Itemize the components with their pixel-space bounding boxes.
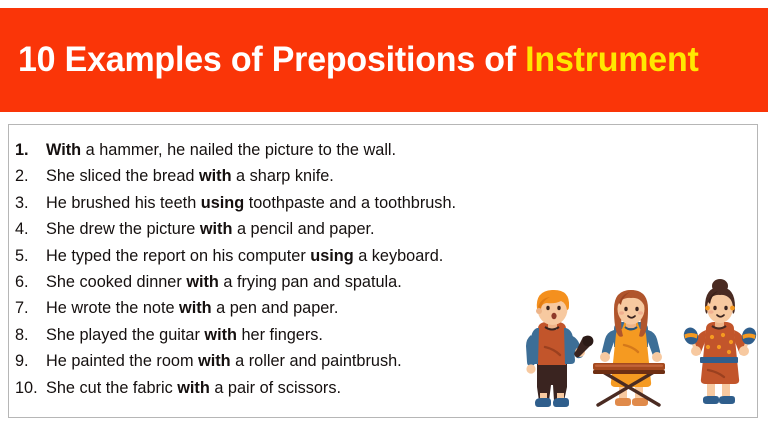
list-item-text: He wrote the note with a pen and paper. xyxy=(46,295,338,321)
page-title-main: 10 Examples of Prepositions of xyxy=(18,40,525,79)
list-item-number: 9. xyxy=(15,348,46,374)
list-item-text: She drew the picture with a pencil and p… xyxy=(46,216,375,242)
list-item-text: She played the guitar with her fingers. xyxy=(46,322,323,348)
text-bold: with xyxy=(177,379,210,397)
examples-list: 1. With a hammer, he nailed the picture … xyxy=(15,137,535,401)
list-item: 3. He brushed his teeth using toothpaste… xyxy=(15,190,535,216)
list-item-number: 3. xyxy=(15,190,46,216)
text-pre: He typed the report on his computer xyxy=(46,247,310,265)
list-item-number: 1. xyxy=(15,137,46,163)
text-bold: With xyxy=(46,141,81,159)
list-item-text: With a hammer, he nailed the picture to … xyxy=(46,137,396,163)
list-item-number: 2. xyxy=(15,163,46,189)
list-item: 4. She drew the picture with a pencil an… xyxy=(15,216,535,242)
text-bold: using xyxy=(310,247,353,265)
text-post: a roller and paintbrush. xyxy=(231,352,402,370)
text-pre: She played the guitar xyxy=(46,326,204,344)
illustration-three-children xyxy=(509,277,758,417)
text-bold: with xyxy=(200,220,233,238)
text-pre: He painted the room xyxy=(46,352,198,370)
list-item-number: 10. xyxy=(15,375,46,401)
text-pre: She sliced the bread xyxy=(46,167,199,185)
figure-boy-with-microphone xyxy=(526,290,593,407)
header-banner: 10 Examples of Prepositions of Instrumen… xyxy=(0,8,768,112)
text-pre: He brushed his teeth xyxy=(46,194,201,212)
list-item: 2. She sliced the bread with a sharp kni… xyxy=(15,163,535,189)
text-post: her fingers. xyxy=(237,326,323,344)
list-item-text: She sliced the bread with a sharp knife. xyxy=(46,163,334,189)
text-pre: She cooked dinner xyxy=(46,273,186,291)
list-item-text: He painted the room with a roller and pa… xyxy=(46,348,402,374)
text-bold: with xyxy=(186,273,219,291)
maraca-left-icon xyxy=(682,326,701,355)
text-bold: with xyxy=(199,167,232,185)
list-item-text: He brushed his teeth using toothpaste an… xyxy=(46,190,456,216)
list-item: 10. She cut the fabric with a pair of sc… xyxy=(15,375,535,401)
list-item-text: He typed the report on his computer usin… xyxy=(46,243,443,269)
text-bold: with xyxy=(204,326,237,344)
text-pre: She drew the picture xyxy=(46,220,200,238)
text-bold: with xyxy=(179,299,212,317)
text-post: a keyboard. xyxy=(354,247,444,265)
list-item-number: 6. xyxy=(15,269,46,295)
text-post: a pair of scissors. xyxy=(210,379,341,397)
text-post: a frying pan and spatula. xyxy=(219,273,402,291)
list-item: 7. He wrote the note with a pen and pape… xyxy=(15,295,535,321)
list-item: 5. He typed the report on his computer u… xyxy=(15,243,535,269)
text-bold: using xyxy=(201,194,244,212)
page-title: 10 Examples of Prepositions of Instrumen… xyxy=(18,40,699,80)
list-item-number: 5. xyxy=(15,243,46,269)
text-post: a pencil and paper. xyxy=(232,220,374,238)
text-pre: He wrote the note xyxy=(46,299,179,317)
list-item: 6. She cooked dinner with a frying pan a… xyxy=(15,269,535,295)
list-item: 1. With a hammer, he nailed the picture … xyxy=(15,137,535,163)
text-post: a pen and paper. xyxy=(212,299,339,317)
text-post: a sharp knife. xyxy=(232,167,334,185)
list-item-number: 4. xyxy=(15,216,46,242)
list-item-text: She cooked dinner with a frying pan and … xyxy=(46,269,402,295)
text-pre: She cut the fabric xyxy=(46,379,177,397)
text-post: toothpaste and a toothbrush. xyxy=(244,194,456,212)
content-box: 1. With a hammer, he nailed the picture … xyxy=(8,124,758,418)
figure-girl-with-maracas xyxy=(682,279,758,404)
list-item-number: 8. xyxy=(15,322,46,348)
text-post: a hammer, he nailed the picture to the w… xyxy=(81,141,396,159)
text-bold: with xyxy=(198,352,231,370)
page-root: 10 Examples of Prepositions of Instrumen… xyxy=(0,0,768,432)
page-title-highlight: Instrument xyxy=(525,40,698,79)
list-item-text: She cut the fabric with a pair of scisso… xyxy=(46,375,341,401)
list-item: 8. She played the guitar with her finger… xyxy=(15,322,535,348)
list-item-number: 7. xyxy=(15,295,46,321)
list-item: 9. He painted the room with a roller and… xyxy=(15,348,535,374)
